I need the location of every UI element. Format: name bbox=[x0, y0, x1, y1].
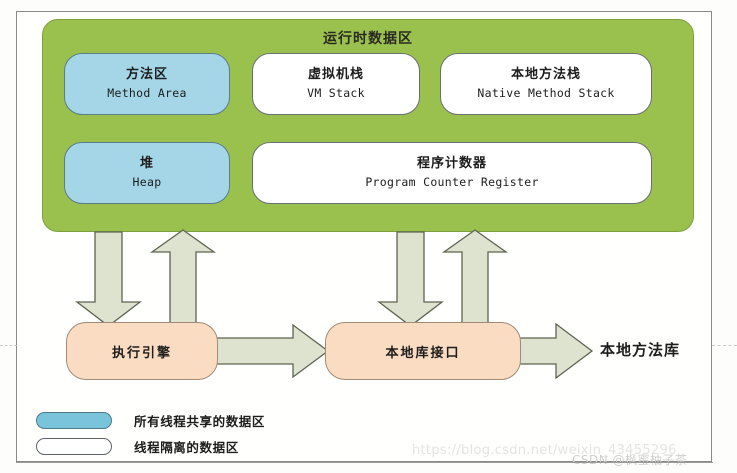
memory-box-method-area[interactable]: 方法区 Method Area bbox=[64, 53, 230, 115]
memory-box-program-counter-register[interactable]: 程序计数器 Program Counter Register bbox=[252, 142, 652, 204]
process-box-execution-engine[interactable]: 执行引擎 bbox=[66, 322, 218, 380]
memory-box-vm-stack-en: VM Stack bbox=[307, 85, 365, 102]
native-method-library-label: 本地方法库 bbox=[600, 339, 680, 360]
memory-box-native-method-stack[interactable]: 本地方法栈 Native Method Stack bbox=[440, 53, 652, 115]
legend-label-isolated: 线程隔离的数据区 bbox=[134, 437, 239, 456]
runtime-data-area-title: 运行时数据区 bbox=[43, 28, 693, 48]
memory-box-heap[interactable]: 堆 Heap bbox=[64, 142, 230, 204]
process-box-native-interface[interactable]: 本地库接口 bbox=[325, 322, 521, 380]
legend-item-isolated: 线程隔离的数据区 bbox=[36, 437, 239, 456]
legend-swatch-shared-icon bbox=[36, 412, 112, 429]
bottom-rule bbox=[16, 462, 713, 463]
watermark-credit: CSDN @枫蜜柚子茶 bbox=[572, 451, 688, 468]
memory-box-vm-stack-cn: 虚拟机栈 bbox=[308, 66, 364, 85]
legend-label-shared: 所有线程共享的数据区 bbox=[134, 411, 265, 430]
diagram-canvas: 运行时数据区 方法区 Method Area 虚拟机栈 VM Stack 本地方… bbox=[0, 0, 737, 473]
legend-swatch-isolated-icon bbox=[36, 438, 112, 455]
memory-box-program-counter-register-cn: 程序计数器 bbox=[417, 155, 487, 174]
left-registration-tick bbox=[0, 345, 17, 346]
memory-box-heap-cn: 堆 bbox=[140, 155, 154, 174]
right-registration-tick bbox=[712, 345, 737, 346]
memory-box-native-method-stack-cn: 本地方法栈 bbox=[511, 66, 581, 85]
memory-box-native-method-stack-en: Native Method Stack bbox=[477, 85, 614, 102]
memory-box-heap-en: Heap bbox=[133, 174, 162, 191]
memory-box-method-area-en: Method Area bbox=[107, 85, 186, 102]
memory-box-method-area-cn: 方法区 bbox=[126, 66, 168, 85]
memory-box-vm-stack[interactable]: 虚拟机栈 VM Stack bbox=[252, 53, 420, 115]
memory-box-program-counter-register-en: Program Counter Register bbox=[365, 174, 538, 191]
legend-item-shared: 所有线程共享的数据区 bbox=[36, 411, 265, 430]
